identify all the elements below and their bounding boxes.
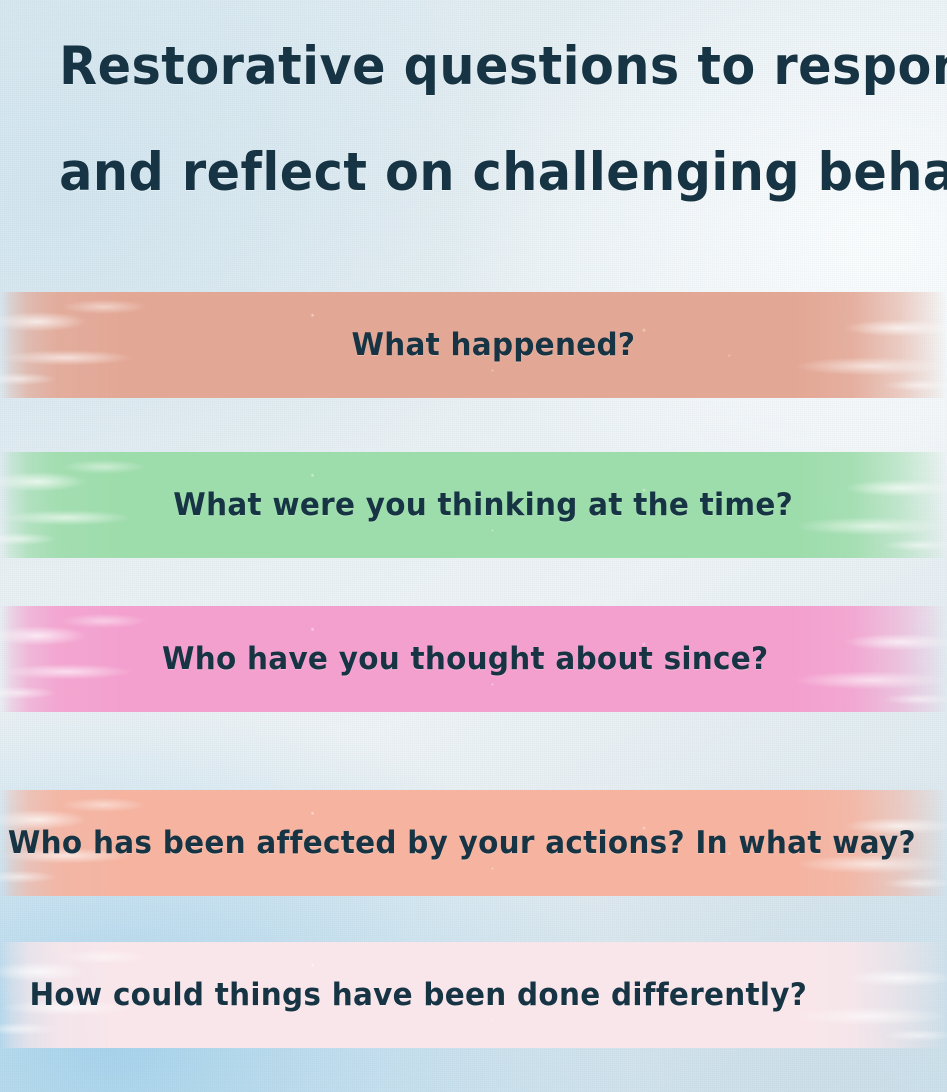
title-line-2: and reflect on challenging behavior	[59, 120, 888, 226]
question-band-1: What happened?	[0, 292, 947, 398]
question-band-5: How could things have been done differen…	[0, 942, 947, 1048]
question-band-2: What were you thinking at the time?	[0, 452, 947, 558]
question-text-4: Who has been affected by your actions? I…	[8, 825, 916, 861]
question-text-1: What happened?	[352, 327, 636, 363]
question-text-2: What were you thinking at the time?	[174, 487, 794, 523]
page-title: Restorative questions to respond and ref…	[0, 14, 947, 226]
question-band-3: Who have you thought about since?	[0, 606, 947, 712]
question-text-3: Who have you thought about since?	[162, 641, 768, 677]
question-text-5: How could things have been done differen…	[30, 977, 808, 1013]
title-line-1: Restorative questions to respond	[59, 14, 888, 120]
question-band-4: Who has been affected by your actions? I…	[0, 790, 947, 896]
poster-canvas: Restorative questions to respond and ref…	[0, 0, 947, 1092]
